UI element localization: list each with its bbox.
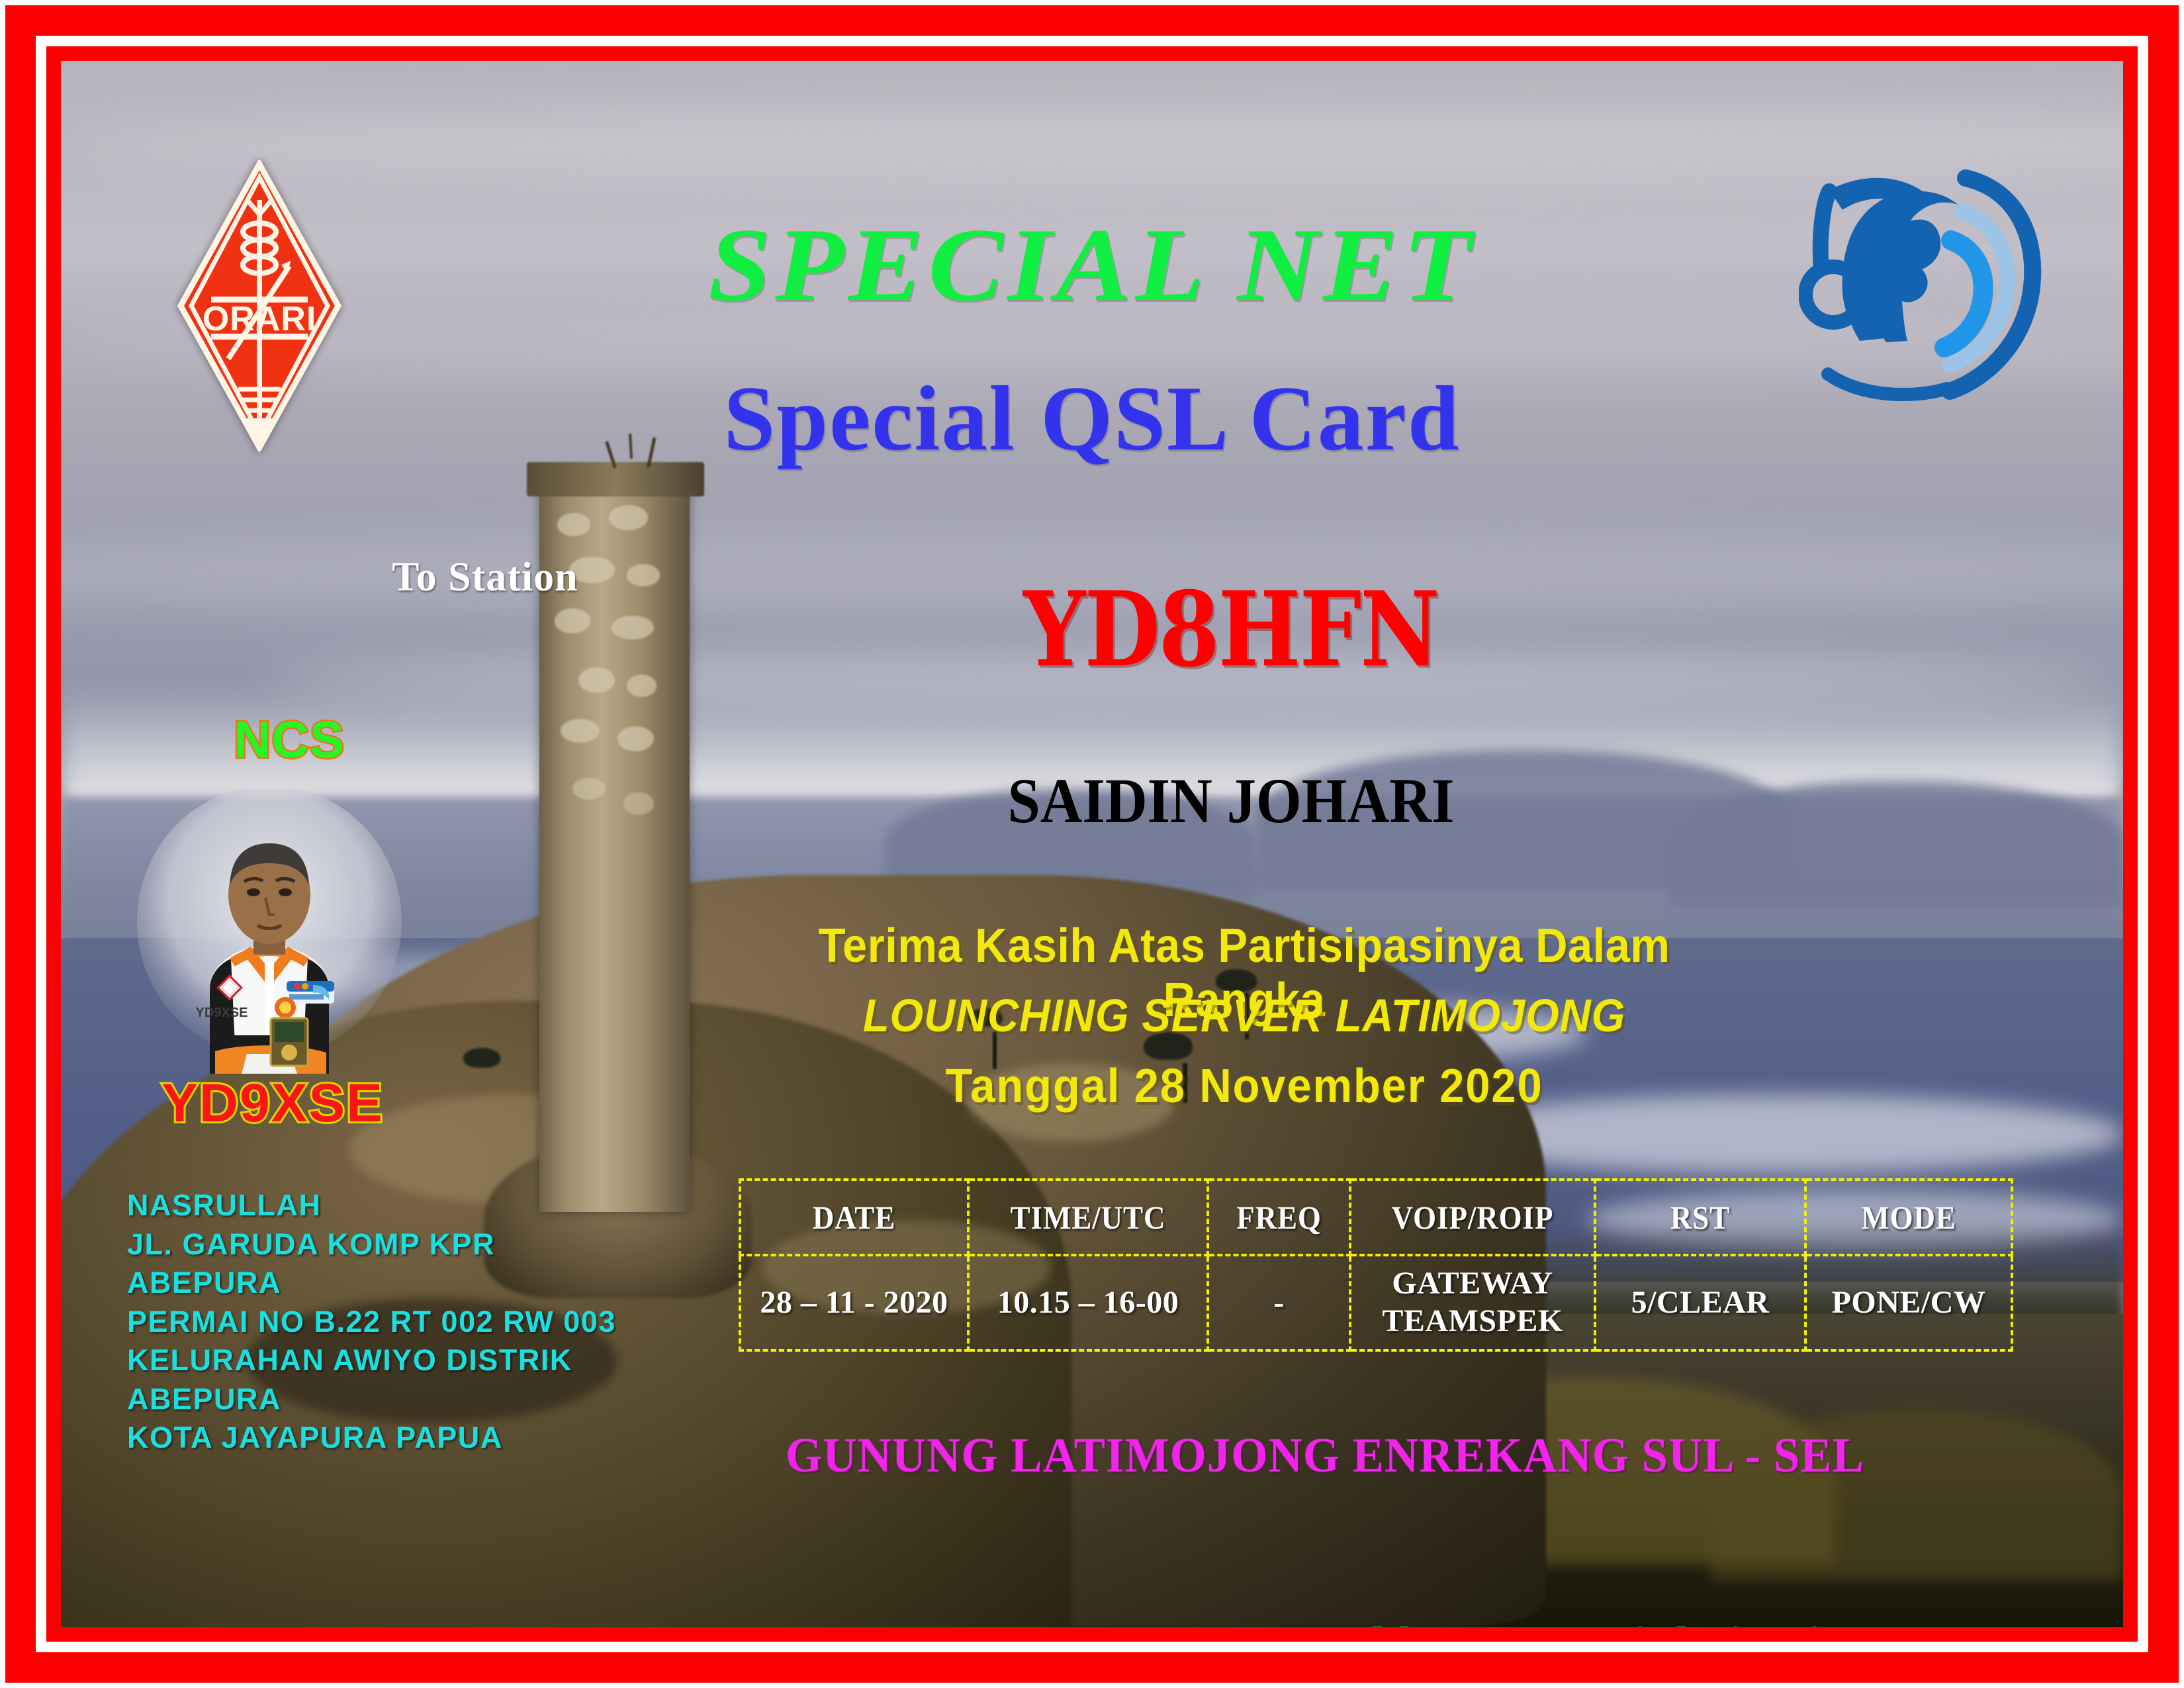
website-address: Address : amatir.latimojong.com [1325, 1617, 1991, 1627]
address-line: PERMAI NO B.22 RT 002 RW 003 [127, 1303, 709, 1342]
ncs-callsign: YD9XSE [127, 1072, 418, 1135]
ncs-operator-photo: YD9XSE [130, 789, 408, 1074]
cell-voip: GATEWAY TEAMSPEK [1350, 1255, 1595, 1350]
inner-red-border: ORARI [46, 46, 2138, 1642]
uniform-callsign-text: YD9XSE [196, 1006, 248, 1020]
cell-time: 10.15 – 16-00 [968, 1255, 1208, 1350]
page-subtitle: Special QSL Card [61, 365, 2123, 472]
header-mode: MODE [1816, 1180, 2002, 1255]
card-photo-area: ORARI [61, 61, 2123, 1627]
qso-log-table: DATE TIME/UTC FREQ VOIP/ROIP RST MODE 28… [739, 1178, 2013, 1352]
header-rst: RST [1606, 1180, 1795, 1255]
event-line-2: LOUNCHING SERVER LATIMOJONG [772, 989, 1717, 1042]
cell-voip-line2: TEAMSPEK [1382, 1303, 1563, 1338]
cell-voip-line1: GATEWAY [1392, 1266, 1553, 1301]
ncs-role-label: NCS [203, 710, 375, 770]
table-header-row: DATE TIME/UTC FREQ VOIP/ROIP RST MODE [740, 1180, 2012, 1255]
event-line-3: Tanggal 28 November 2020 [772, 1059, 1717, 1113]
operator-name: SAIDIN JOHARI [873, 764, 1589, 837]
outer-red-border: ORARI [5, 5, 2179, 1683]
mountain-location-label: GUNUNG LATIMOJONG ENREKANG SUL - SEL [721, 1428, 1929, 1484]
mailing-address: NASRULLAH JL. GARUDA KOMP KPR ABEPURA PE… [127, 1186, 709, 1458]
address-line: KOTA JAYAPURA PAPUA [127, 1419, 709, 1458]
address-line: JL. GARUDA KOMP KPR [127, 1225, 709, 1264]
header-voip: VOIP/ROIP [1363, 1180, 1583, 1255]
club-motto: "AMATIR RADIO ADALAH PROGRESIVE" [140, 1617, 1052, 1627]
card-overlay: ORARI [61, 61, 2123, 1627]
to-station-label: To Station [392, 554, 578, 601]
address-line: ABEPURA [127, 1264, 709, 1303]
cell-mode: PONE/CW [1805, 1255, 2012, 1350]
address-line: KELURAHAN AWIYO DISTRIK [127, 1341, 709, 1380]
table-row: 28 – 11 - 2020 10.15 – 16-00 - GATEWAY T… [740, 1255, 2012, 1350]
qsl-card: ORARI [0, 0, 2184, 1688]
cell-date: 28 – 11 - 2020 [740, 1255, 968, 1350]
white-border-gap: ORARI [36, 36, 2148, 1652]
address-line: NASRULLAH [127, 1186, 709, 1225]
address-line: ABEPURA [127, 1380, 709, 1419]
header-time: TIME/UTC [980, 1180, 1196, 1255]
cell-freq: - [1208, 1255, 1350, 1350]
header-freq: FREQ [1215, 1180, 1343, 1255]
cell-rst: 5/CLEAR [1595, 1255, 1805, 1350]
station-callsign: YD8HFN [842, 569, 1620, 690]
page-title: SPECIAL NET [61, 205, 2123, 326]
header-date: DATE [751, 1180, 957, 1255]
